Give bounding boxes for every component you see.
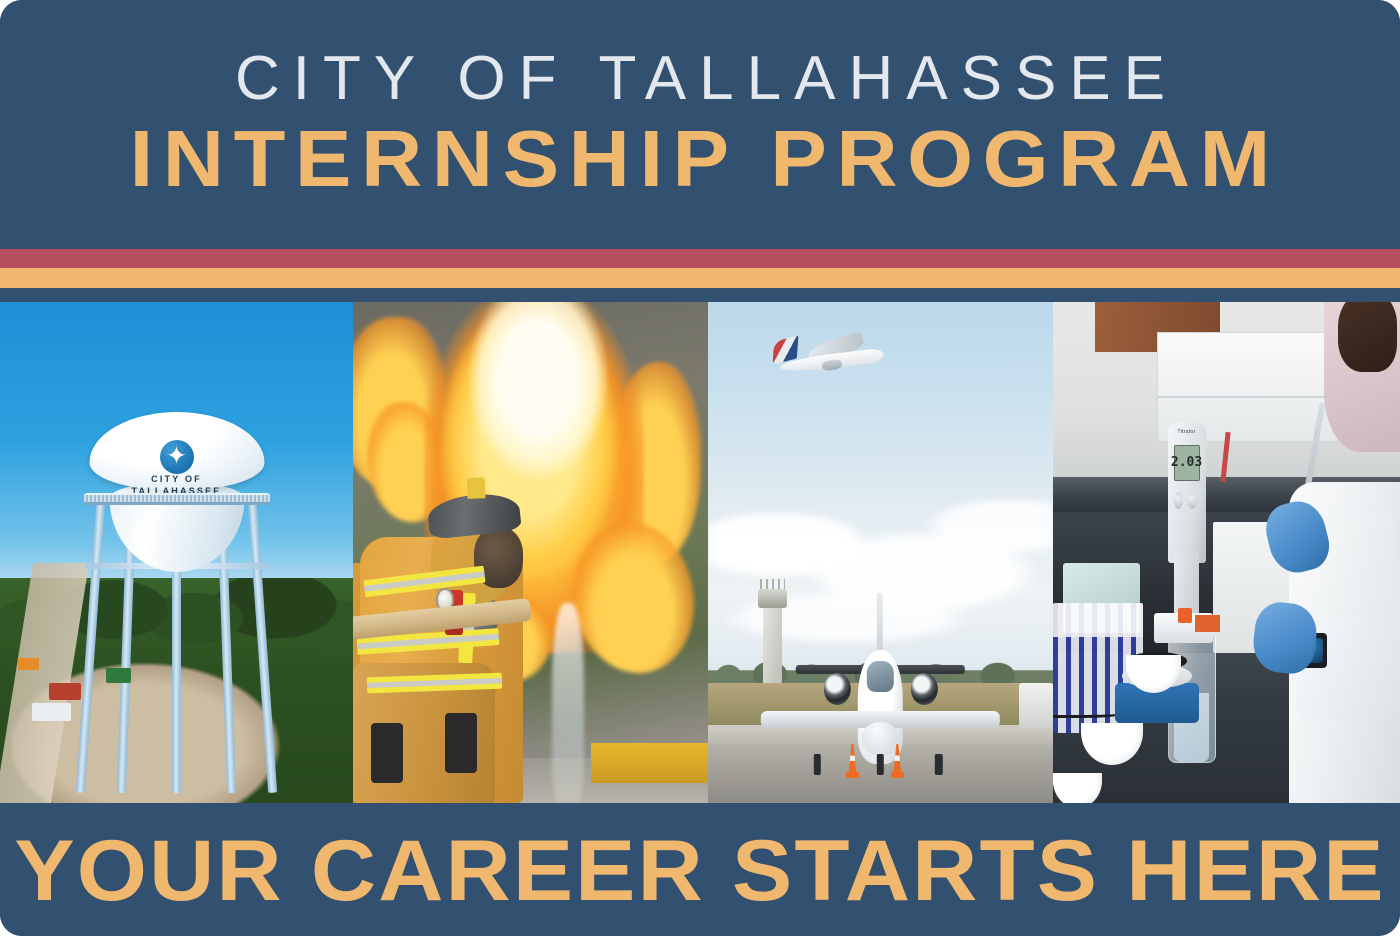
device-brand-label: Titrator — [1168, 429, 1206, 435]
site-truck — [32, 703, 71, 721]
photo-water-quality-lab: Titrator 2.03 — [1053, 302, 1400, 803]
landing-gear — [877, 754, 884, 775]
tower-branding-line1: CITY OF — [131, 473, 221, 485]
orange-valve — [1178, 608, 1192, 623]
airliner-in-flight — [770, 337, 894, 377]
landing-gear — [935, 754, 942, 775]
yellow-safety-curb — [591, 743, 708, 783]
titrator-display: 2.03 — [1174, 445, 1200, 481]
internship-program-poster: CITY OF TALLAHASSEE INTERNSHIP PROGRAM — [0, 0, 1400, 936]
titrator-button — [1174, 492, 1183, 509]
site-equipment — [106, 668, 131, 683]
red-accent-stripe — [0, 249, 1400, 268]
photo-firefighter-training — [353, 302, 708, 803]
organization-name: CITY OF TALLAHASSEE — [0, 48, 1400, 110]
city-of-tallahassee-logo-icon: ✦ — [160, 440, 194, 474]
ground-service-truck — [1019, 683, 1054, 728]
jet-engine — [910, 673, 937, 705]
digital-titrator: Titrator 2.03 — [1168, 422, 1206, 562]
site-truck — [49, 683, 81, 700]
photo-airport — [708, 302, 1053, 803]
jet-nose — [862, 722, 899, 756]
weighing-dish — [1053, 773, 1102, 803]
technician-head — [1338, 302, 1397, 372]
knee-pad — [371, 723, 403, 783]
photo-water-tower: ✦ CITY OF TALLAHASSEE — [0, 302, 353, 803]
poster-title: INTERNSHIP PROGRAM — [0, 119, 1400, 199]
knee-pad — [445, 713, 477, 773]
business-jet — [756, 593, 1004, 783]
jet-engine — [823, 673, 850, 705]
photo-collage: ✦ CITY OF TALLAHASSEE — [0, 302, 1400, 803]
landing-gear — [813, 754, 820, 775]
site-equipment — [18, 658, 39, 670]
airliner-engine — [822, 359, 843, 372]
poster-header: CITY OF TALLAHASSEE INTERNSHIP PROGRAM — [0, 0, 1400, 249]
tagline: YOUR CAREER STARTS HERE — [0, 828, 1400, 914]
cockpit-windshield — [867, 661, 894, 691]
titrator-button — [1188, 492, 1197, 509]
star-glyph: ✦ — [166, 444, 187, 469]
orange-label — [1195, 615, 1219, 632]
water-spray — [552, 603, 584, 803]
poster-footer: YOUR CAREER STARTS HERE — [0, 803, 1400, 936]
tower-catwalk-railing — [84, 493, 270, 505]
gold-accent-stripe — [0, 268, 1400, 288]
stripe-spacer — [0, 288, 1400, 302]
